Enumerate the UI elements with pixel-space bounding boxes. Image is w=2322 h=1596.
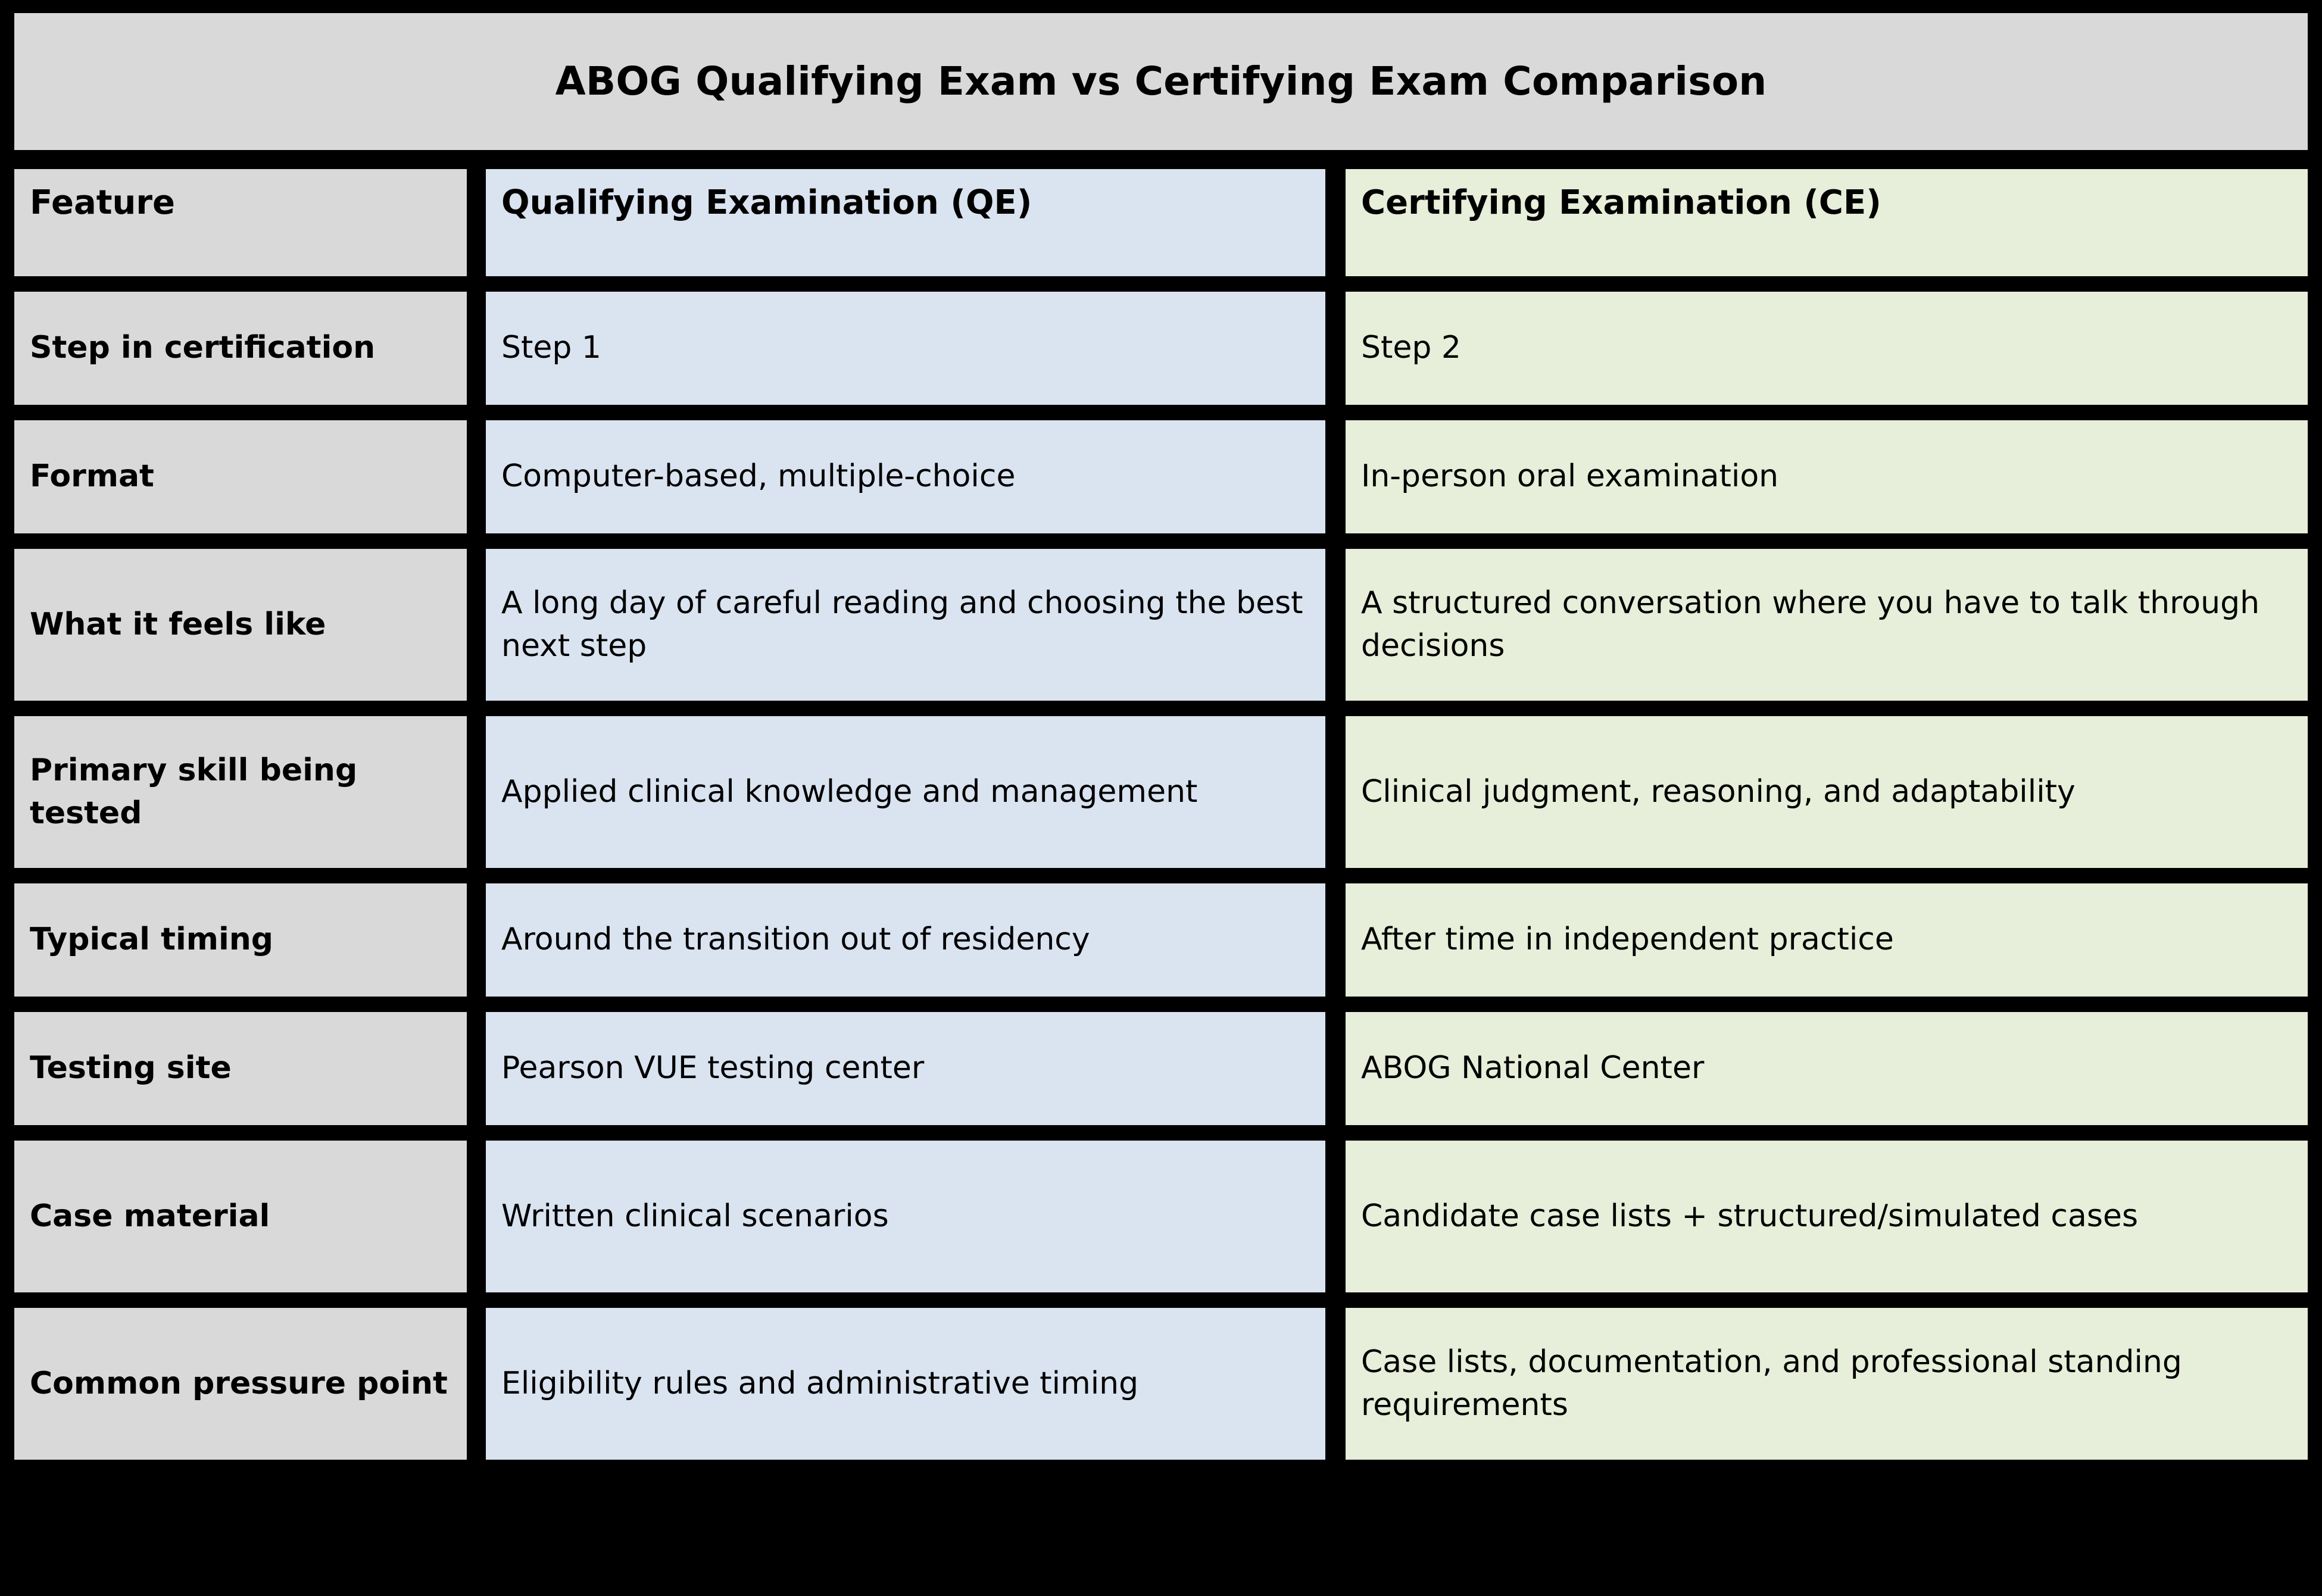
comparison-table: ABOG Qualifying Exam vs Certifying Exam … — [0, 0, 2322, 1596]
table-row: Format Computer-based, multiple-choice I… — [14, 420, 2308, 533]
row-qe-value: Written clinical scenarios — [501, 1195, 889, 1238]
row-ce-cell: Candidate case lists + structured/simula… — [1346, 1141, 2308, 1292]
row-feature-cell: What it feels like — [14, 549, 467, 701]
table-row: What it feels like A long day of careful… — [14, 549, 2308, 701]
row-qe-value: Computer-based, multiple-choice — [501, 455, 1015, 498]
header-label-qe: Qualifying Examination (QE) — [501, 180, 1032, 226]
row-feature-label: Step in certification — [30, 327, 375, 370]
row-ce-cell: After time in independent practice — [1346, 883, 2308, 997]
row-feature-label: Testing site — [30, 1047, 232, 1090]
table-title-row: ABOG Qualifying Exam vs Certifying Exam … — [14, 13, 2308, 150]
table-row: Step in certification Step 1 Step 2 — [14, 292, 2308, 405]
row-qe-value: Eligibility rules and administrative tim… — [501, 1363, 1138, 1406]
row-ce-value: In-person oral examination — [1361, 455, 1778, 498]
table-row: Case material Written clinical scenarios… — [14, 1141, 2308, 1292]
row-qe-cell: Applied clinical knowledge and managemen… — [486, 716, 1325, 868]
row-qe-value: Around the transition out of residency — [501, 919, 1090, 961]
table-header-row: Feature Qualifying Examination (QE) Cert… — [14, 169, 2308, 276]
table-row: Primary skill being tested Applied clini… — [14, 716, 2308, 868]
row-qe-cell: Step 1 — [486, 292, 1325, 405]
row-ce-value: Step 2 — [1361, 327, 1461, 370]
row-ce-cell: In-person oral examination — [1346, 420, 2308, 533]
row-ce-value: A structured conversation where you have… — [1361, 582, 2292, 668]
row-ce-cell: ABOG National Center — [1346, 1012, 2308, 1125]
row-ce-value: Clinical judgment, reasoning, and adapta… — [1361, 771, 2076, 814]
row-qe-cell: Pearson VUE testing center — [486, 1012, 1325, 1125]
header-cell-qe: Qualifying Examination (QE) — [486, 169, 1325, 276]
row-feature-cell: Case material — [14, 1141, 467, 1292]
row-ce-cell: A structured conversation where you have… — [1346, 549, 2308, 701]
row-feature-cell: Testing site — [14, 1012, 467, 1125]
row-feature-label: Case material — [30, 1195, 270, 1238]
table-title-cell: ABOG Qualifying Exam vs Certifying Exam … — [14, 13, 2308, 150]
row-qe-cell: Around the transition out of residency — [486, 883, 1325, 997]
page-title: ABOG Qualifying Exam vs Certifying Exam … — [555, 60, 1767, 104]
row-feature-cell: Step in certification — [14, 292, 467, 405]
row-feature-label: Format — [30, 455, 154, 498]
header-cell-feature: Feature — [14, 169, 467, 276]
table-row: Testing site Pearson VUE testing center … — [14, 1012, 2308, 1125]
row-ce-cell: Clinical judgment, reasoning, and adapta… — [1346, 716, 2308, 868]
row-feature-label: What it feels like — [30, 604, 326, 646]
row-qe-value: Pearson VUE testing center — [501, 1047, 924, 1090]
header-label-ce: Certifying Examination (CE) — [1361, 180, 1881, 226]
row-ce-value: After time in independent practice — [1361, 919, 1894, 961]
row-qe-cell: Computer-based, multiple-choice — [486, 420, 1325, 533]
row-feature-label: Typical timing — [30, 919, 273, 961]
row-ce-value: ABOG National Center — [1361, 1047, 1704, 1090]
row-qe-value: A long day of careful reading and choosi… — [501, 582, 1310, 668]
row-ce-cell: Step 2 — [1346, 292, 2308, 405]
header-label-feature: Feature — [30, 180, 175, 226]
table-row: Common pressure point Eligibility rules … — [14, 1308, 2308, 1460]
row-feature-label: Primary skill being tested — [30, 749, 451, 835]
row-qe-cell: Written clinical scenarios — [486, 1141, 1325, 1292]
row-ce-value: Candidate case lists + structured/simula… — [1361, 1195, 2138, 1238]
row-ce-value: Case lists, documentation, and professio… — [1361, 1341, 2292, 1427]
row-feature-cell: Typical timing — [14, 883, 467, 997]
row-feature-cell: Common pressure point — [14, 1308, 467, 1460]
row-feature-cell: Format — [14, 420, 467, 533]
row-ce-cell: Case lists, documentation, and professio… — [1346, 1308, 2308, 1460]
header-cell-ce: Certifying Examination (CE) — [1346, 169, 2308, 276]
row-qe-cell: A long day of careful reading and choosi… — [486, 549, 1325, 701]
row-feature-cell: Primary skill being tested — [14, 716, 467, 868]
row-qe-cell: Eligibility rules and administrative tim… — [486, 1308, 1325, 1460]
row-qe-value: Step 1 — [501, 327, 601, 370]
row-feature-label: Common pressure point — [30, 1363, 448, 1406]
table-row: Typical timing Around the transition out… — [14, 883, 2308, 997]
row-qe-value: Applied clinical knowledge and managemen… — [501, 771, 1197, 814]
